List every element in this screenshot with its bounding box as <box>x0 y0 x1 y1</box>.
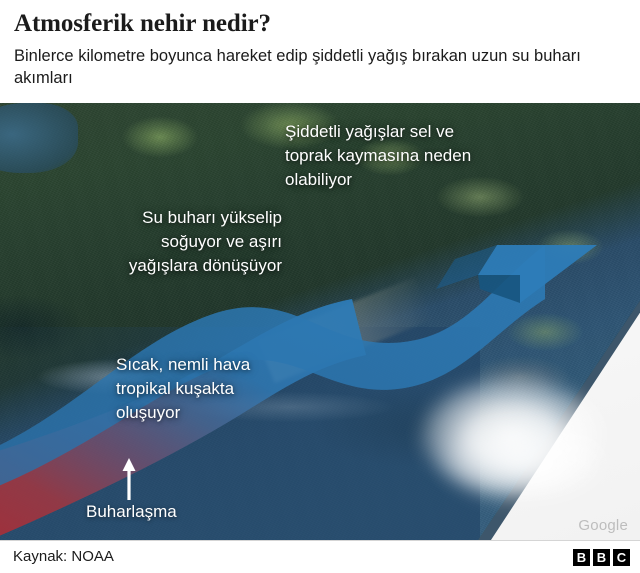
annotation-evaporation: Buharlaşma <box>86 501 177 523</box>
page-title: Atmosferik nehir nedir? <box>14 9 626 39</box>
annotation-heavy-rain: Şiddetli yağışlar sel ve toprak kaymasın… <box>285 120 535 192</box>
bbc-logo: B B C <box>573 549 630 566</box>
header: Atmosferik nehir nedir? Binlerce kilomet… <box>0 0 640 103</box>
bbc-logo-letter-3: C <box>613 549 630 566</box>
bbc-logo-letter-2: B <box>593 549 610 566</box>
google-watermark: Google <box>578 517 628 534</box>
bay-water <box>0 103 78 173</box>
illustration-stage: Şiddetli yağışlar sel ve toprak kaymasın… <box>0 103 640 540</box>
page-subtitle: Binlerce kilometre boyunca hareket edip … <box>14 46 626 89</box>
infographic-root: Atmosferik nehir nedir? Binlerce kilomet… <box>0 0 640 573</box>
bbc-logo-letter-1: B <box>573 549 590 566</box>
footer: Kaynak: NOAA B B C <box>0 540 640 573</box>
source-label: Kaynak: NOAA <box>13 548 114 565</box>
annotation-vapour-rise: Su buharı yükselip soğuyor ve aşırı yağı… <box>52 206 282 278</box>
annotation-warm-moist-air: Sıcak, nemli hava tropikal kuşakta oluşu… <box>116 353 316 425</box>
